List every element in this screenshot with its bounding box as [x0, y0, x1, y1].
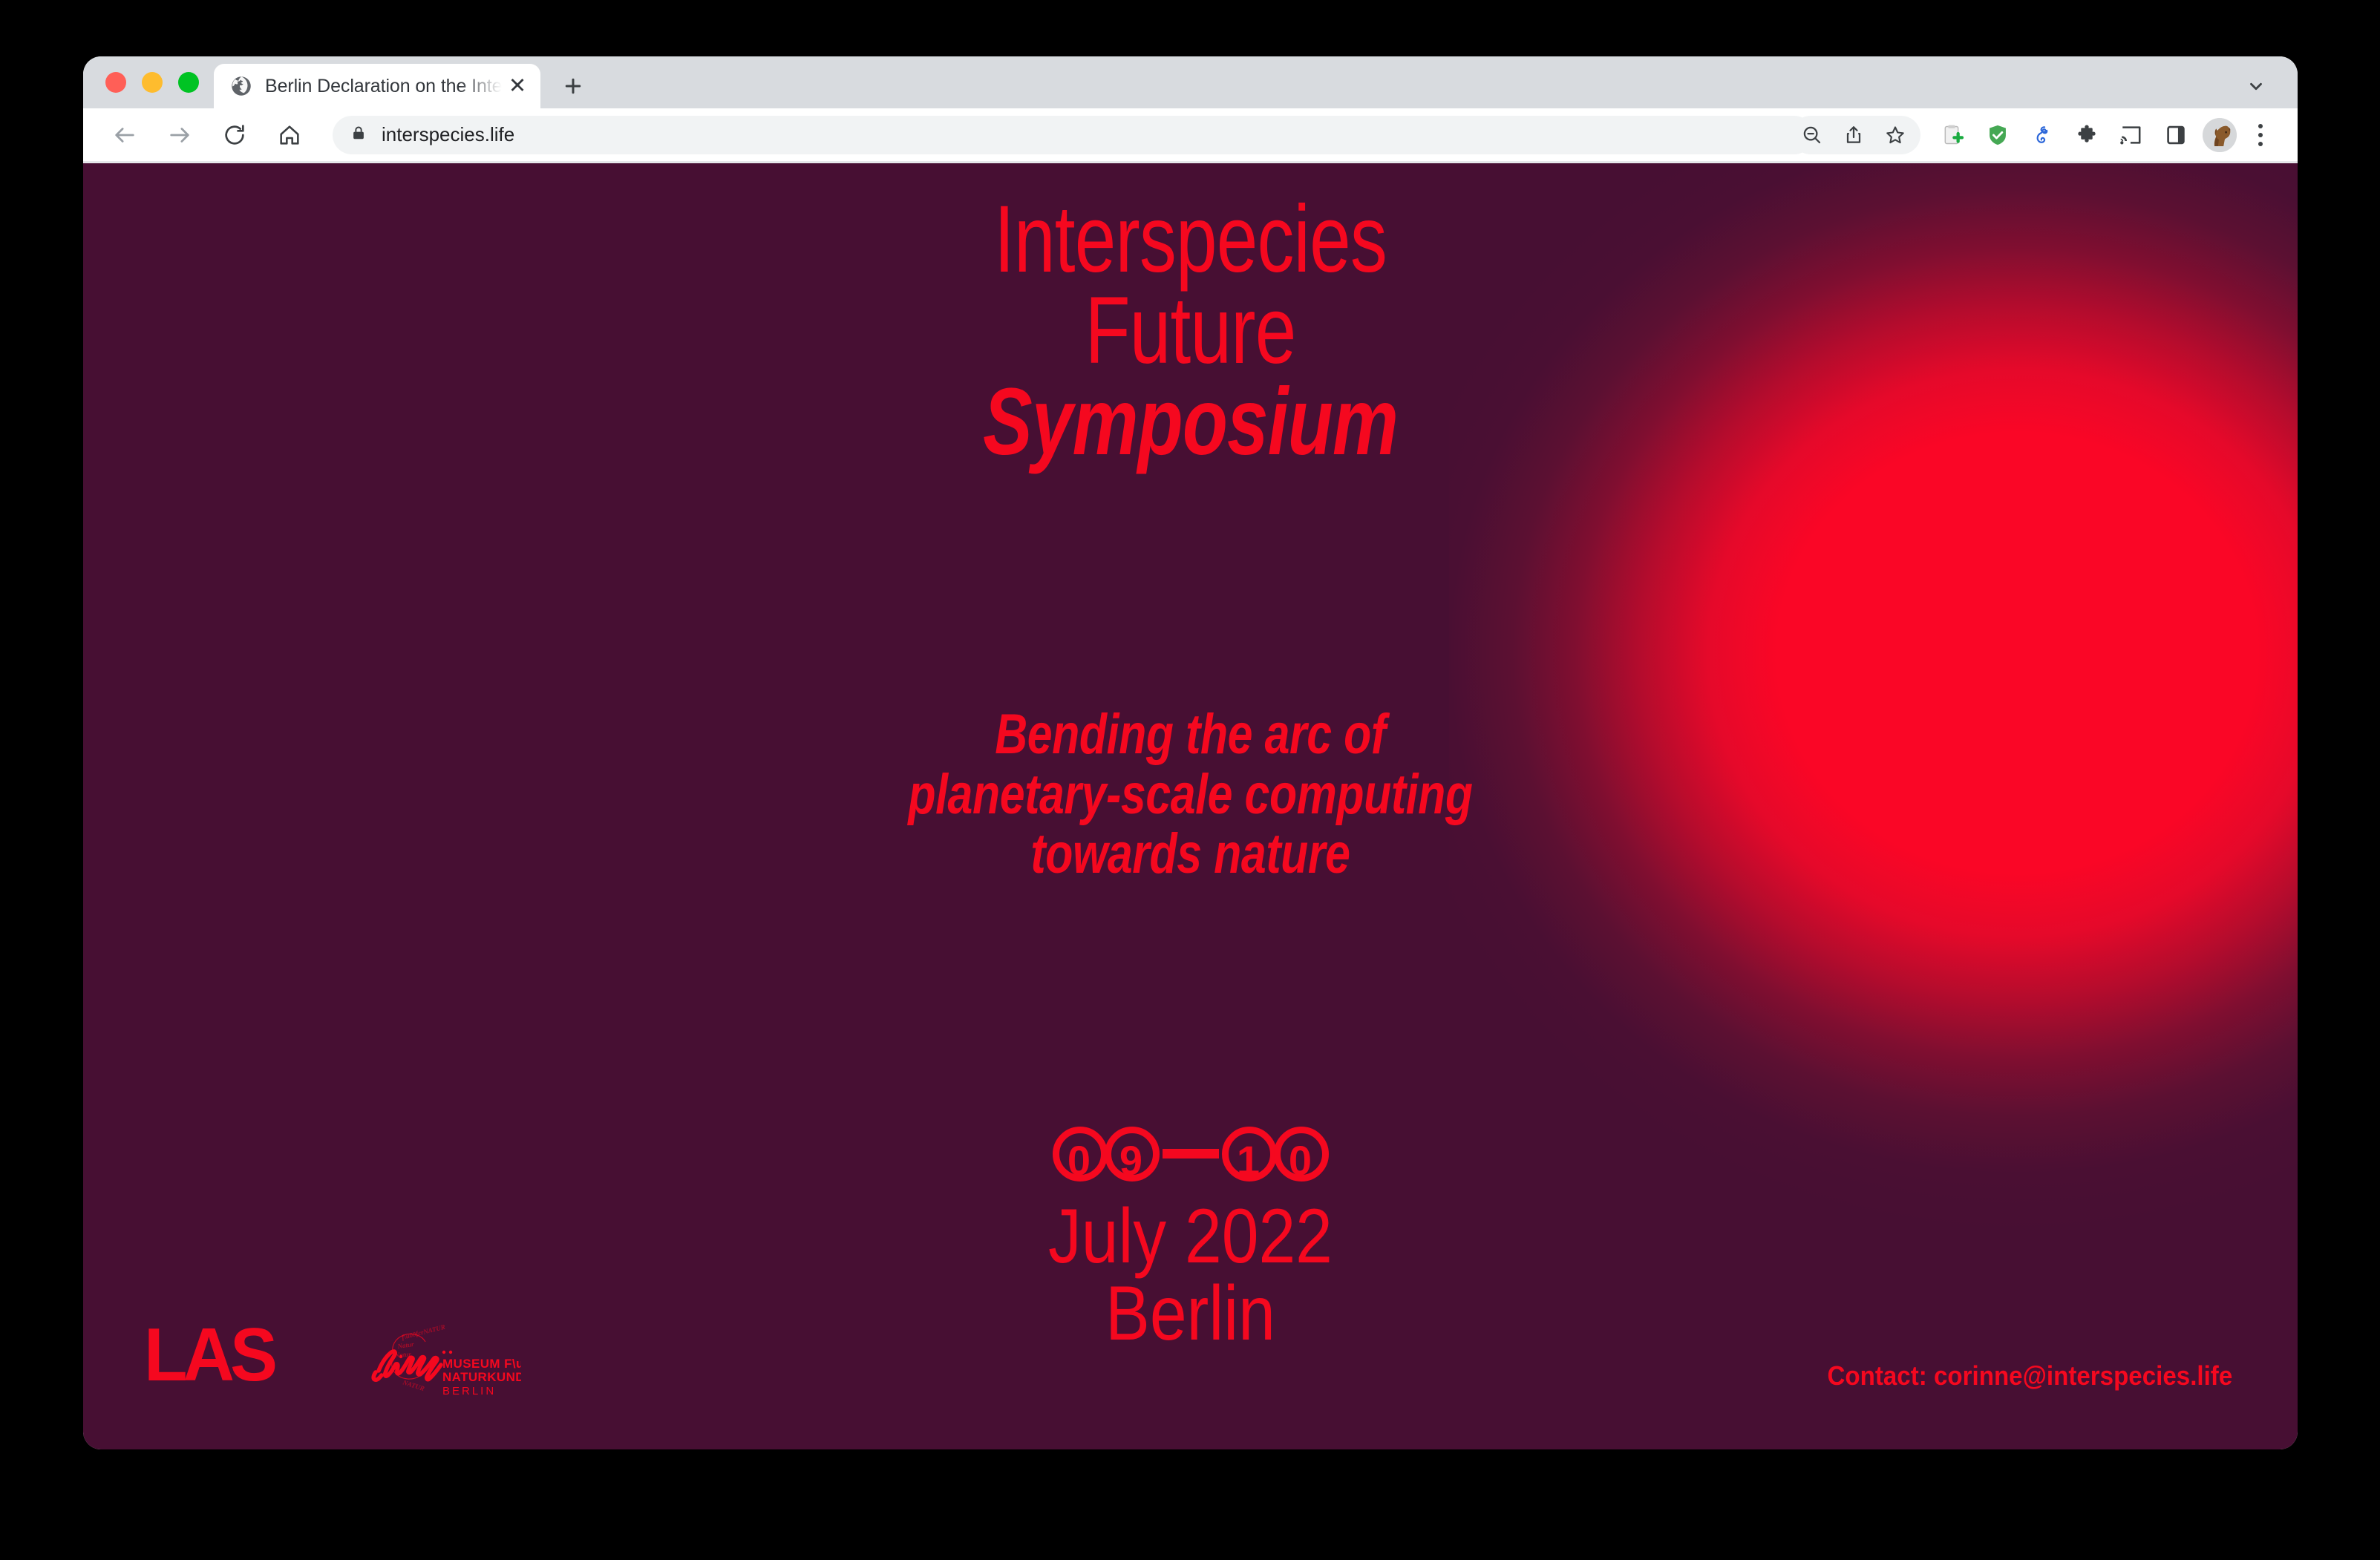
title-line-interspecies: Interspecies: [327, 194, 2054, 286]
contact-email[interactable]: Contact: corinne@interspecies.life: [1827, 1360, 2232, 1392]
svg-text:f\u00fcrNATUR: f\u00fcrNATUR: [401, 1323, 446, 1341]
browser-toolbar: interspecies.life: [83, 108, 2298, 163]
window-minimize-button[interactable]: [142, 72, 163, 93]
forward-arrow-icon[interactable]: [157, 113, 202, 157]
subtitle-line-3: towards nature: [304, 825, 2076, 885]
extension-toolbar: [1931, 113, 2198, 157]
tab-title: Berlin Declaration on the Inters: [265, 76, 502, 97]
globe-icon: [230, 75, 252, 97]
puzzle-piece-icon[interactable]: [2064, 113, 2109, 157]
title-line-symposium: Symposium: [327, 377, 2054, 468]
home-icon[interactable]: [267, 113, 312, 157]
svg-text:Natur: Natur: [396, 1340, 415, 1350]
museum-line-1: MUSEUM F\u00dcR: [442, 1357, 521, 1371]
three-dot-menu-icon[interactable]: [2243, 113, 2278, 157]
blue-knot-icon[interactable]: [2020, 113, 2064, 157]
date-range-dash: [1163, 1149, 1219, 1158]
date-circled-digits: 0910: [83, 1113, 2298, 1184]
browser-tab[interactable]: Berlin Declaration on the Inters ✕: [214, 64, 540, 108]
museum-line-2: NATURKUNDE: [442, 1370, 521, 1384]
side-panel-icon[interactable]: [2154, 113, 2198, 157]
page-content: Interspecies Future Symposium Bending th…: [83, 163, 2298, 1449]
event-city: Berlin: [238, 1275, 2142, 1352]
window-traffic-lights: [83, 56, 214, 108]
address-bar[interactable]: interspecies.life: [333, 116, 1814, 154]
page-subtitle: Bending the arc of planetary-scale compu…: [304, 705, 2076, 885]
page-viewport: Interspecies Future Symposium Bending th…: [83, 163, 2298, 1449]
horse-avatar[interactable]: [2203, 118, 2237, 152]
omnibox-action-group: [1791, 116, 1920, 154]
day-end-digit-2: 0: [1274, 1127, 1329, 1182]
subtitle-line-2: planetary-scale computing: [304, 765, 2076, 825]
reload-icon[interactable]: [212, 113, 257, 157]
tab-strip: Berlin Declaration on the Inters ✕: [83, 56, 2298, 108]
window-close-button[interactable]: [105, 72, 126, 93]
adguard-shield-icon[interactable]: [1975, 113, 2020, 157]
event-date-block: 0910 July 2022 Berlin: [83, 1113, 2298, 1352]
cast-icon[interactable]: [2109, 113, 2154, 157]
browser-window: Berlin Declaration on the Inters ✕: [83, 56, 2298, 1449]
address-bar-url: interspecies.life: [382, 123, 514, 146]
title-line-future: Future: [327, 286, 2054, 377]
close-icon[interactable]: ✕: [505, 73, 530, 99]
clipboard-add-icon[interactable]: [1931, 113, 1975, 157]
day-start-digit-2: 9: [1105, 1127, 1160, 1182]
bookmark-star-icon[interactable]: [1874, 116, 1916, 154]
back-arrow-icon[interactable]: [102, 113, 147, 157]
day-start-digit-1: 0: [1053, 1127, 1108, 1182]
lock-icon: [350, 123, 367, 146]
date-location-lines: July 2022 Berlin: [238, 1198, 2142, 1352]
day-end-digit-1: 1: [1222, 1127, 1277, 1182]
share-icon[interactable]: [1833, 116, 1874, 154]
page-title: Interspecies Future Symposium: [327, 194, 2054, 468]
museum-line-3: BERLIN: [442, 1385, 496, 1397]
subtitle-line-1: Bending the arc of: [304, 705, 2076, 765]
zoom-out-icon[interactable]: [1791, 116, 1833, 154]
museum-fuer-naturkunde-logo[interactable]: f\u00fcrNATUR Natur Natur NATUR MUSEUM F…: [365, 1322, 521, 1399]
las-logo[interactable]: LAS: [144, 1318, 273, 1393]
event-month-year: July 2022: [238, 1198, 2142, 1275]
window-maximize-button[interactable]: [178, 72, 199, 93]
svg-text:NATUR: NATUR: [401, 1378, 425, 1392]
new-tab-button[interactable]: [551, 64, 595, 108]
chevron-down-icon[interactable]: [2237, 67, 2275, 105]
